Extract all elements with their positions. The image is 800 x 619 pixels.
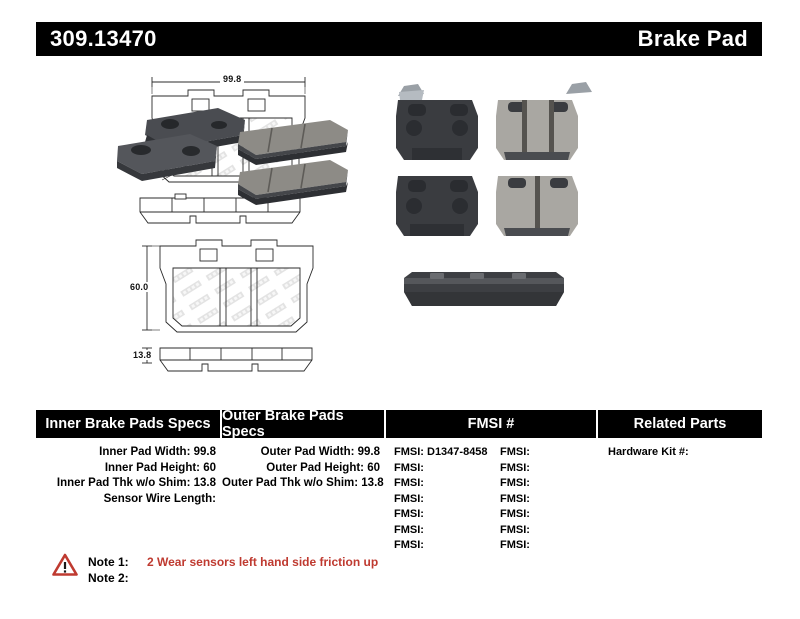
fmsi-row: FMSI: [492,492,598,508]
fmsi-row: FMSI: [492,523,598,539]
notes-section: Note 1: 2 Wear sensors left hand side fr… [52,553,378,586]
spec-table-body: Inner Pad Width: 99.8 Inner Pad Height: … [36,438,762,554]
fmsi-column: FMSI: D1347-8458 FMSI: FMSI: FMSI: FMSI:… [386,445,598,554]
spec-table-header-row: Inner Brake Pads Specs Outer Brake Pads … [36,410,762,438]
fmsi-row: FMSI: D1347-8458 [386,445,492,461]
fmsi-subcolumn-left: FMSI: D1347-8458 FMSI: FMSI: FMSI: FMSI:… [386,445,492,554]
spec-row: Outer Pad Height: 60 [222,461,386,477]
fmsi-row: FMSI: [386,476,492,492]
note-1-value: 2 Wear sensors left hand side friction u… [142,554,378,570]
product-type: Brake Pad [638,26,748,52]
fmsi-subcolumn-right: FMSI: FMSI: FMSI: FMSI: FMSI: FMSI: FMSI… [492,445,598,554]
spec-row: Inner Pad Height: 60 [36,461,222,477]
column-header-fmsi: FMSI # [386,410,598,438]
note-rows: Note 1: 2 Wear sensors left hand side fr… [88,553,378,586]
fmsi-row: FMSI: [386,538,492,554]
technical-drawings-svg [0,60,800,390]
fmsi-row: FMSI: [492,461,598,477]
outer-specs-column: Outer Pad Width: 99.8 Outer Pad Height: … [222,445,386,554]
note-row-2: Note 2: [88,570,378,586]
column-header-related-parts: Related Parts [598,410,762,438]
spec-row: Sensor Wire Length: [36,492,222,508]
dimension-label-height: 60.0 [127,282,151,292]
inner-specs-column: Inner Pad Width: 99.8 Inner Pad Height: … [36,445,222,554]
fmsi-row: FMSI: [386,507,492,523]
header-bar: 309.13470 Brake Pad [36,22,762,56]
dimension-label-width: 99.8 [220,74,244,84]
pad-drawing-profile-bottom [142,348,312,371]
fmsi-row: FMSI: [492,538,598,554]
fmsi-row: FMSI: [492,507,598,523]
product-photo-flatlay [396,82,592,236]
part-number: 309.13470 [50,26,157,52]
warning-triangle-icon [52,553,78,577]
note-2-value [142,570,147,586]
dimension-label-thickness: 13.8 [130,350,154,360]
fmsi-row: FMSI: [492,476,598,492]
fmsi-row: FMSI: [386,461,492,477]
spec-row: Outer Pad Width: 99.8 [222,445,386,461]
note-row-1: Note 1: 2 Wear sensors left hand side fr… [88,554,378,570]
pad-drawing-bottom [142,240,313,332]
related-part-row: Hardware Kit #: [598,445,762,461]
fmsi-row: FMSI: [492,445,598,461]
spec-row: Outer Pad Thk w/o Shim: 13.8 [222,476,386,492]
drawings-area: 99.8 60.0 13.8 [0,60,800,390]
related-parts-column: Hardware Kit #: [598,445,762,554]
note-1-label: Note 1: [88,554,142,570]
spec-row: Inner Pad Width: 99.8 [36,445,222,461]
fmsi-row: FMSI: [386,492,492,508]
column-header-outer-specs: Outer Brake Pads Specs [222,410,386,438]
fmsi-row: FMSI: [386,523,492,539]
column-header-inner-specs: Inner Brake Pads Specs [36,410,222,438]
spec-table: Inner Brake Pads Specs Outer Brake Pads … [36,410,762,554]
product-photo-edge-view [404,272,564,306]
spec-row: Inner Pad Thk w/o Shim: 13.8 [36,476,222,492]
note-2-label: Note 2: [88,570,142,586]
